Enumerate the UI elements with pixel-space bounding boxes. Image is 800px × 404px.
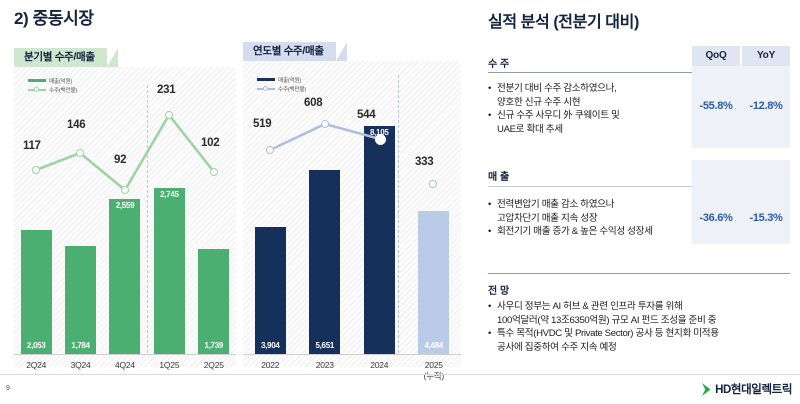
annual-chart-tab: 연도별 수주/매출 xyxy=(243,42,336,61)
outlook-rule xyxy=(488,273,790,274)
annual-order-point-1 xyxy=(321,120,329,128)
charts-panel: 2) 중동시장 분기별 수주/매출 매출(억원) 수주(백만불) 117 xyxy=(0,0,470,404)
quarterly-chart-tab: 분기별 수주/매출 xyxy=(14,48,107,67)
quarterly-order-point-2 xyxy=(121,186,129,194)
annual-x-label-3-year: 2025 xyxy=(425,360,443,370)
quarterly-chart: 매출(억원) 수주(백만불) 117 146 92 231 102 xyxy=(14,67,236,367)
section-label-revenue: 매 출 xyxy=(488,168,509,183)
quarterly-x-label-2: 4Q24 xyxy=(103,360,147,370)
orders-bullet-2: 신규 수주 사우디 外 쿠웨이트 및 xyxy=(488,109,688,123)
column-header-yoy: YoY xyxy=(742,46,790,66)
annual-order-point-0 xyxy=(266,146,274,154)
section-label-orders: 수 주 xyxy=(488,55,509,70)
quarterly-x-labels: 2Q24 3Q24 4Q24 1Q25 2Q25 xyxy=(14,360,236,370)
revenue-bullet-1: 고압차단기 매출 지속 성장 xyxy=(488,212,694,226)
footer-divider xyxy=(0,374,800,375)
revenue-bullet-2: 회전기기 매출 증가 & 높은 수익성 성장세 xyxy=(488,225,694,239)
page-number: 9 xyxy=(6,385,10,392)
annual-x-label-2: 2024 xyxy=(352,360,407,382)
company-logo-text: HD현대일렉트릭 xyxy=(715,381,792,397)
quarterly-x-label-4: 2Q25 xyxy=(192,360,236,370)
quarterly-order-point-4 xyxy=(210,168,218,176)
slide-root: 2) 중동시장 분기별 수주/매출 매출(억원) 수주(백만불) 117 xyxy=(0,0,800,404)
section-label-outlook: 전 망 xyxy=(488,282,509,297)
annual-x-labels: 2022 2023 2024 2025 (누적) xyxy=(243,360,461,382)
quarterly-order-line xyxy=(14,67,236,367)
section-bullets-orders: 전분기 대비 수주 감소하였으나, 양호한 신규 수주 시현 신규 수주 사우디… xyxy=(488,82,688,136)
column-header-qoq: QoQ xyxy=(692,46,740,66)
annual-x-label-3: 2025 (누적) xyxy=(407,360,462,382)
orders-bullet-1: 양호한 신규 수주 시현 xyxy=(488,96,688,110)
annual-x-label-1: 2023 xyxy=(298,360,353,382)
annual-x-axis xyxy=(243,354,461,355)
outlook-bullet-3: 공사에 집중하여 수주 지속 예정 xyxy=(488,341,796,355)
quarterly-x-label-0: 2Q24 xyxy=(14,360,58,370)
analysis-title: 실적 분석 (전분기 대비) xyxy=(488,8,639,32)
orders-qoq-value: -55.8% xyxy=(692,100,740,112)
revenue-yoy-value: -15.3% xyxy=(742,212,790,224)
company-logo: HD현대일렉트릭 xyxy=(701,381,792,397)
quarterly-order-point-0 xyxy=(32,166,40,174)
annual-chart: 매출(억원) 수주(백만불) 519 608 544 333 3,904 xyxy=(243,61,461,367)
outlook-bullet-2: 특수 목적(HVDC 및 Private Sector) 공사 등 현지화 미적… xyxy=(488,327,796,341)
quarterly-x-label-3: 1Q25 xyxy=(147,360,191,370)
quarterly-order-point-1 xyxy=(76,149,84,157)
annual-order-line xyxy=(243,61,461,367)
outlook-bullet-1: 100억달러(약 13조6350억원) 규모 AI 펀드 조성을 준비 중 xyxy=(488,314,796,328)
section-bullets-revenue: 전력변압기 매출 감소 하였으나 고압차단기 매출 지속 성장 회전기기 매출 … xyxy=(488,198,694,239)
annual-x-label-3-note: (누적) xyxy=(407,370,462,382)
revenue-bullet-0: 전력변압기 매출 감소 하였으나 xyxy=(488,198,694,212)
orders-bullet-3: UAE로 확대 추세 xyxy=(488,123,688,137)
orders-yoy-value: -12.8% xyxy=(742,100,790,112)
quarterly-order-point-3 xyxy=(165,111,173,119)
section-bullets-outlook: 사우디 정부는 AI 허브 & 관련 인프라 투자를 위해 100억달러(약 1… xyxy=(488,300,796,354)
annual-order-point-3 xyxy=(429,180,437,188)
revenue-qoq-value: -36.6% xyxy=(692,212,740,224)
annual-x-label-0: 2022 xyxy=(243,360,298,382)
annual-order-point-2 xyxy=(375,134,386,145)
orders-bullet-0: 전분기 대비 수주 감소하였으나, xyxy=(488,82,688,96)
quarterly-x-label-1: 3Q24 xyxy=(58,360,102,370)
analysis-panel: 실적 분석 (전분기 대비) QoQ YoY 수 주 전분기 대비 수주 감소하… xyxy=(470,0,800,404)
metrics-column-shade-revenue xyxy=(692,160,790,244)
chevron-right-icon xyxy=(701,383,712,396)
section-rule-orders xyxy=(488,72,692,73)
section-rule-revenue xyxy=(488,186,692,187)
outlook-bullet-0: 사우디 정부는 AI 허브 & 관련 인프라 투자를 위해 xyxy=(488,300,796,314)
quarterly-x-axis xyxy=(14,354,236,355)
page-title: 2) 중동시장 xyxy=(14,4,94,29)
